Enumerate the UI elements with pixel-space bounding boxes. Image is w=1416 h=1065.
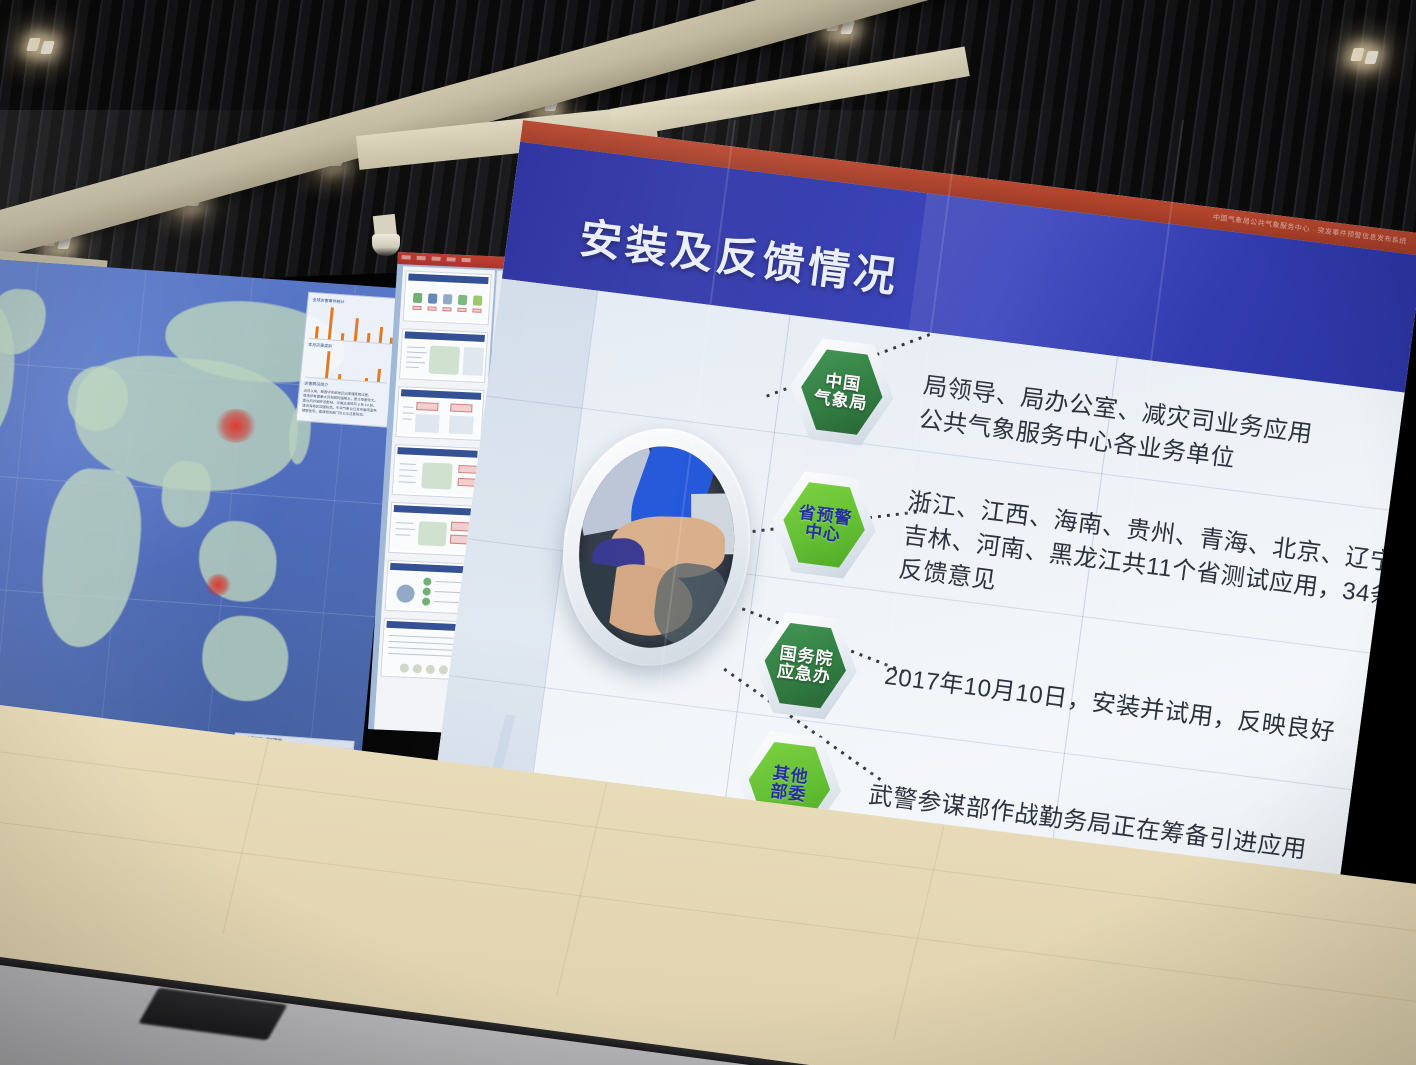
row-description: 浙江、江西、海南、贵州、青海、北京、辽宁、 吉林、河南、黑龙江共11个省测试应用… bbox=[897, 485, 1385, 646]
list-item[interactable] bbox=[392, 444, 481, 499]
list-item[interactable] bbox=[399, 328, 488, 383]
org-logo bbox=[439, 665, 449, 674]
ribbon-tab[interactable] bbox=[402, 255, 411, 259]
badge-line: 应急办 bbox=[776, 662, 832, 687]
badge-provincial-warning-center[interactable]: 省预警 中心 bbox=[765, 465, 882, 585]
badge-line: 气象局 bbox=[813, 389, 869, 414]
thumb-body bbox=[395, 456, 477, 496]
org-logo bbox=[413, 664, 423, 673]
org-logo bbox=[400, 663, 410, 672]
ribbon-tab[interactable] bbox=[432, 257, 441, 261]
world-map-display[interactable]: 全球灾害事件统计 本月灾害类别 bbox=[0, 258, 407, 757]
thumb-body bbox=[402, 340, 484, 380]
row-line: 2017年10月10日，安装并试用，反映良好 bbox=[882, 660, 1361, 754]
list-item[interactable] bbox=[403, 270, 492, 325]
map-chart-1 bbox=[309, 305, 394, 345]
thumb-body bbox=[399, 398, 481, 438]
teamwork-photo bbox=[567, 437, 747, 657]
map-chart-2 bbox=[305, 350, 390, 384]
ribbon-tab[interactable] bbox=[462, 258, 471, 262]
ribbon-tab[interactable] bbox=[447, 257, 456, 261]
list-item[interactable] bbox=[388, 502, 477, 557]
badge-state-council-emergency-office[interactable]: 国务院 应急办 bbox=[747, 606, 864, 726]
thumb-body bbox=[391, 514, 473, 554]
map-side-panel[interactable]: 全球灾害事件统计 本月灾害类别 bbox=[296, 292, 400, 428]
row-description: 2017年10月10日，安装并试用，反映良好 bbox=[882, 660, 1361, 754]
badge-line: 中心 bbox=[804, 523, 842, 546]
thumb-body bbox=[406, 282, 488, 322]
oval-photo-frame bbox=[549, 418, 765, 677]
page-title: 安装及反馈情况 bbox=[576, 204, 904, 305]
list-item[interactable] bbox=[395, 386, 484, 441]
control-room-photo: 全球灾害事件统计 本月灾害类别 bbox=[0, 0, 1416, 1065]
ribbon-tab[interactable] bbox=[417, 256, 426, 260]
row-description: 局领导、局办公室、减灾司业务应用 公共气象服务中心各业务单位 bbox=[917, 369, 1400, 496]
badge-line: 部委 bbox=[769, 782, 807, 805]
badge-china-meteorological-administration[interactable]: 中国 气象局 bbox=[783, 332, 900, 452]
ribbon-tabs[interactable] bbox=[402, 255, 471, 262]
org-logo bbox=[426, 665, 436, 674]
